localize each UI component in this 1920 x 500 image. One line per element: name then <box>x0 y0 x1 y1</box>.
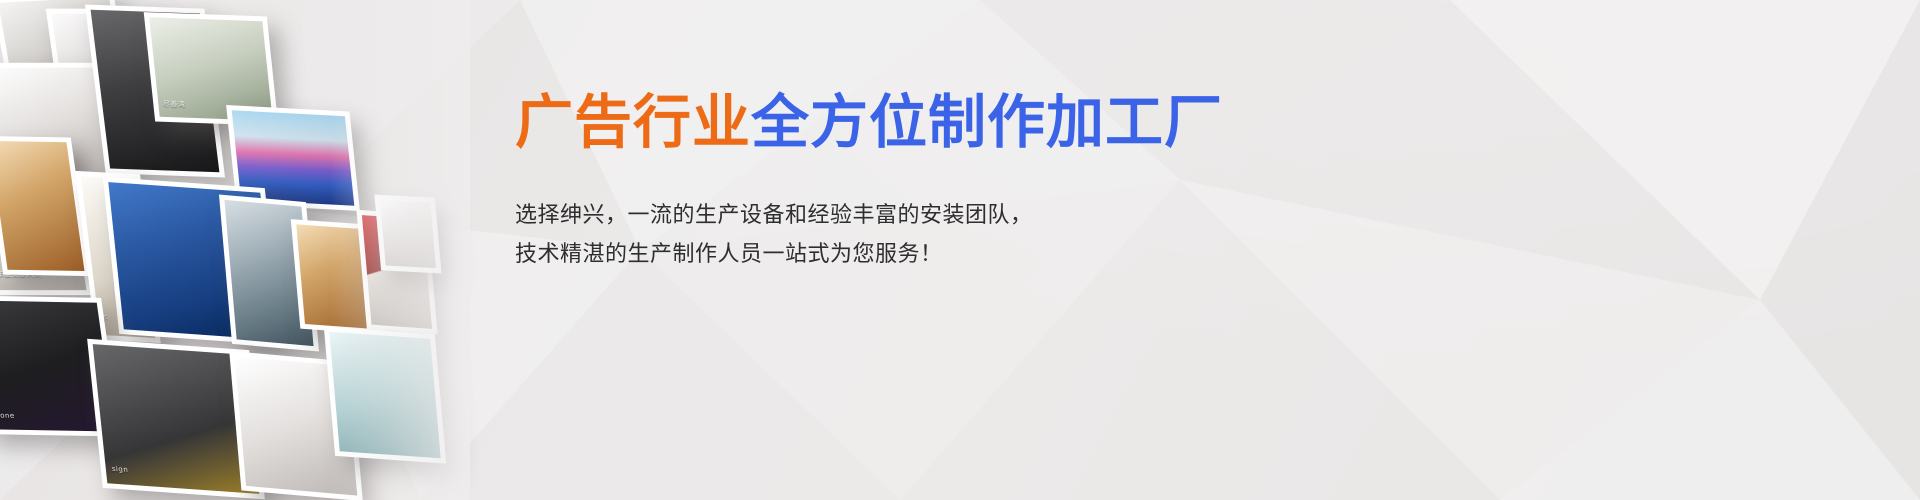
banner-headline: 广告行业全方位制作加工厂 <box>515 92 1275 153</box>
photo-collage: A6L A6L 新款 尽善湾 年度贡献大奖 <box>0 0 430 500</box>
photo-label: phone <box>0 411 15 419</box>
headline-segment-orange: 广告行业 <box>515 88 751 156</box>
collage-photo-sign-far-right <box>324 326 446 463</box>
promo-banner: A6L A6L 新款 尽善湾 年度贡献大奖 <box>0 0 1920 500</box>
banner-text-block: 广告行业全方位制作加工厂 选择绅兴，一流的生产设备和经验丰富的安装团队， 技术精… <box>515 92 1275 274</box>
banner-subtitle-line-1: 选择绅兴，一流的生产设备和经验丰富的安装团队， <box>515 197 1275 236</box>
headline-segment-blue: 全方位制作加工厂 <box>751 88 1223 156</box>
collage-photos: A6L A6L 新款 尽善湾 年度贡献大奖 <box>0 0 430 500</box>
photo-label: 尽善湾 <box>162 99 185 110</box>
photo-label: sign <box>111 465 128 474</box>
collage-photo-white-booth <box>374 195 441 274</box>
banner-subtitle-line-2: 技术精湛的生产制作人员一站式为您服务！ <box>515 236 1275 275</box>
